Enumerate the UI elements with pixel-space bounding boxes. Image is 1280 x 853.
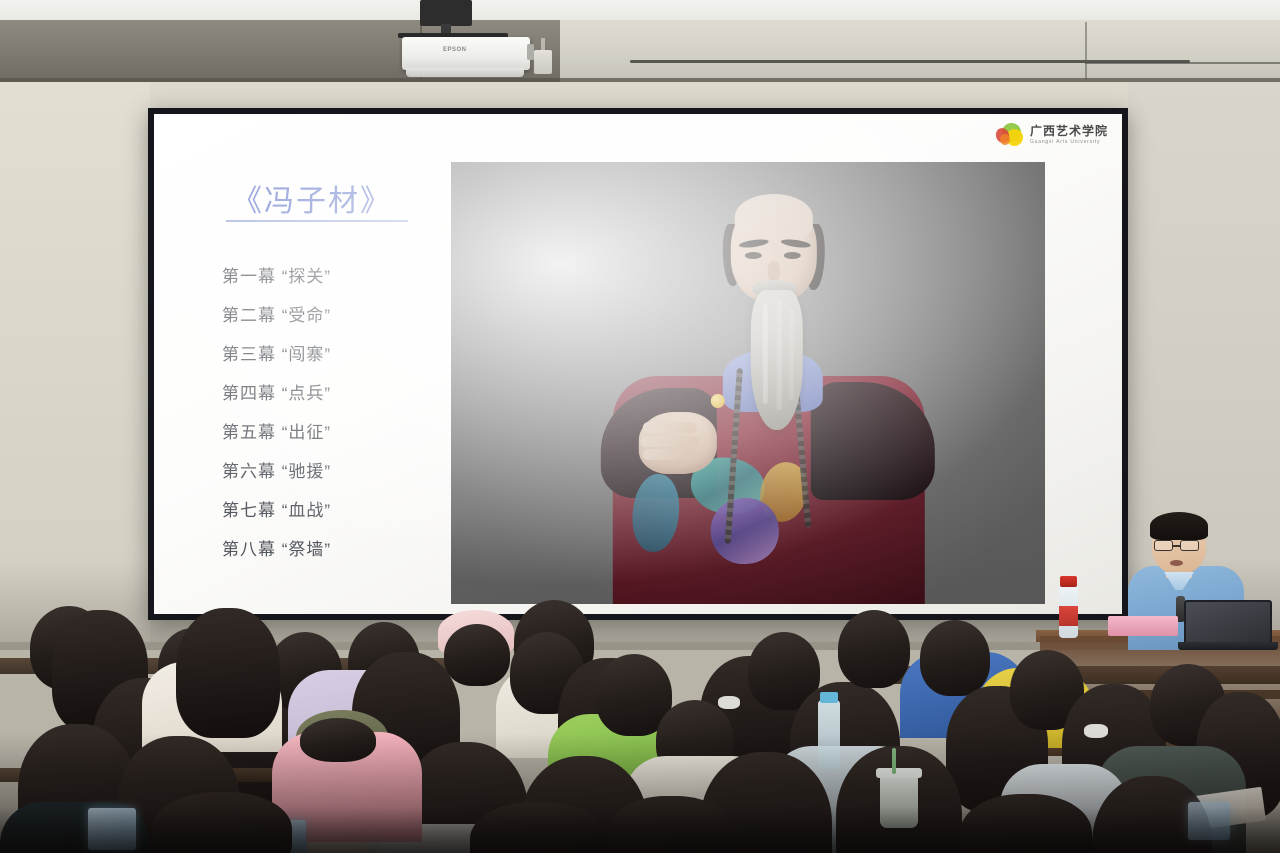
lecturer-hair [1150, 512, 1208, 540]
act-item: 第三幕 “闯寨” [222, 340, 331, 365]
projector-mount [420, 0, 472, 26]
sprinkler-head [534, 50, 552, 74]
university-logo: 广西艺术学院 Guangxi Arts University [994, 122, 1108, 148]
act-item: 第八幕 “祭墙” [222, 535, 331, 560]
lecture-hall-photo: EPSON 广西艺术学院 Guangxi Arts University 《冯子… [0, 0, 1280, 853]
act-item: 第六幕 “驰援” [222, 457, 331, 482]
act-item: 第四幕 “点兵” [222, 379, 331, 404]
eyeglasses-icon [1154, 540, 1173, 551]
wall-left [0, 82, 150, 642]
audience-head [444, 624, 510, 686]
act-item: 第五幕 “出征” [222, 418, 331, 443]
act-item: 第七幕 “血战” [222, 496, 331, 521]
eyeglasses-bridge [1173, 545, 1180, 547]
act-item: 第一幕 “探关” [222, 262, 331, 287]
eyeglasses-icon [1180, 540, 1199, 551]
logo-name-cn: 广西艺术学院 [1030, 125, 1108, 137]
audience-water-bottle-cap [820, 692, 838, 703]
opera-stage-photo [451, 162, 1045, 604]
projector-brand-label: EPSON [443, 47, 467, 53]
audience-head [838, 610, 910, 688]
projector-lens [527, 44, 534, 60]
projected-slide: 广西艺术学院 Guangxi Arts University 《冯子材》 第一幕… [154, 114, 1122, 614]
ceiling-panel [560, 20, 1280, 82]
water-bottle-cap [1060, 576, 1077, 587]
projector-base [406, 68, 524, 77]
logo-text: 广西艺术学院 Guangxi Arts University [1030, 125, 1108, 145]
projection-screen-frame: 广西艺术学院 Guangxi Arts University 《冯子材》 第一幕… [148, 108, 1128, 620]
ceiling [0, 0, 1280, 22]
hair-clip [718, 696, 740, 709]
bottom-shadow [0, 807, 1280, 853]
ceiling-conduit-secondary [1085, 62, 1280, 64]
act-item: 第二幕 “受命” [222, 301, 331, 326]
audience-seating [0, 596, 1280, 853]
lecturer-mouth [1170, 560, 1183, 566]
logo-mark-icon [994, 122, 1024, 148]
act-list: 第一幕 “探关” 第二幕 “受命” 第三幕 “闯寨” 第四幕 “点兵” 第五幕 … [222, 262, 331, 560]
slide-title: 《冯子材》 [232, 176, 392, 220]
audience-head [920, 620, 990, 696]
ceiling-seam [1085, 22, 1087, 80]
photo-vignette [451, 162, 1045, 604]
audience-head [176, 608, 280, 738]
logo-name-en: Guangxi Arts University [1030, 140, 1108, 145]
projector [402, 37, 530, 70]
slide-title-underline [226, 220, 408, 222]
